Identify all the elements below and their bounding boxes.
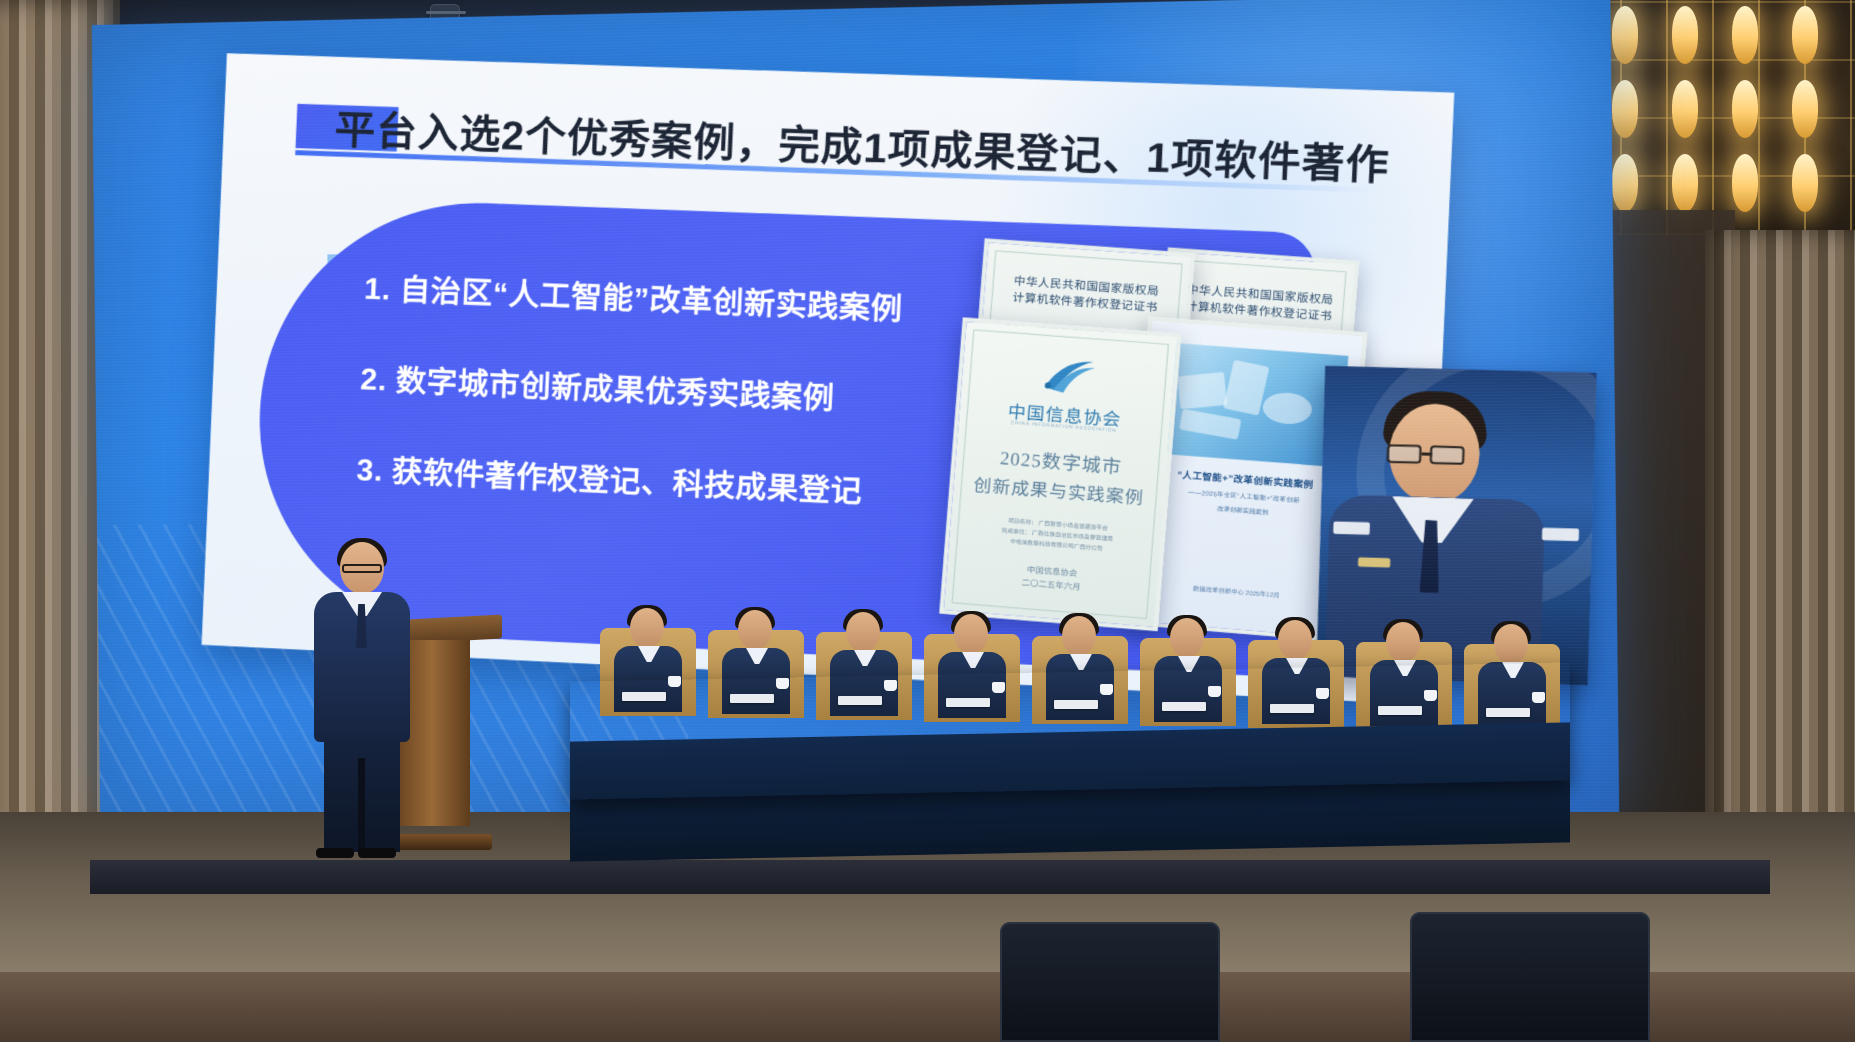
chandelier-bulb-icon xyxy=(1612,80,1638,138)
water-cup xyxy=(668,676,681,687)
chandelier-bulb-icon xyxy=(1732,80,1758,138)
speaker-glasses xyxy=(342,564,382,573)
member-head xyxy=(1278,620,1312,660)
chandelier-bulb-icon xyxy=(1612,6,1638,64)
water-cup xyxy=(1532,692,1545,703)
stage-riser xyxy=(90,860,1770,894)
member-head xyxy=(846,612,880,652)
name-plate xyxy=(1486,708,1530,717)
ai-doc-footer: 数据改革创新中心 2025年12月 xyxy=(1131,580,1342,607)
member-head xyxy=(1062,616,1096,656)
water-cup xyxy=(992,682,1005,693)
conference-hall-scene: 平台入选2个优秀案例，完成1项成果登记、1项软件著作 1. 自治区“人工智能”改… xyxy=(0,0,1855,1042)
chandelier-bulb-icon xyxy=(1792,154,1818,212)
member-head xyxy=(954,614,988,654)
audience-chair-2 xyxy=(1410,912,1650,1042)
name-plate xyxy=(1162,702,1206,711)
member-head xyxy=(1386,622,1420,662)
member-head xyxy=(1494,624,1528,664)
chandelier-bulb-icon xyxy=(1672,154,1698,212)
name-plate xyxy=(838,696,882,705)
name-plate xyxy=(1378,706,1422,715)
member-head xyxy=(630,608,664,648)
pip-glasses-right xyxy=(1430,445,1465,465)
chandelier-bulb-icon xyxy=(1612,154,1638,212)
audience-chair-1 xyxy=(1000,922,1220,1042)
pip-epaulette-right xyxy=(1542,528,1579,542)
china-information-association-certificate: 中国信息协会 CHINA INFORMATION ASSOCIATION 202… xyxy=(939,317,1181,631)
chandelier-bulb-icon xyxy=(1732,154,1758,212)
speaker-at-podium xyxy=(306,542,416,852)
name-plate xyxy=(1054,700,1098,709)
pip-glasses-left xyxy=(1387,444,1422,464)
lamp-yoke xyxy=(426,11,466,14)
water-cup xyxy=(776,678,789,689)
association-logo-icon xyxy=(1038,354,1098,399)
panel-table xyxy=(570,662,1570,799)
chandelier-bulb-icon xyxy=(1732,6,1758,64)
water-cup xyxy=(1100,684,1113,695)
member-head xyxy=(738,610,772,650)
speaker-shoe-left xyxy=(316,848,354,858)
speaker-shoe-right xyxy=(358,848,396,858)
pip-name-badge xyxy=(1358,557,1390,567)
name-plate xyxy=(622,692,666,701)
document-cover-photo xyxy=(1155,342,1349,467)
chandelier-bulb-icon xyxy=(1672,6,1698,64)
pip-glasses-bridge xyxy=(1421,452,1432,455)
water-cup xyxy=(1208,686,1221,697)
name-plate xyxy=(946,698,990,707)
speaker-legs xyxy=(324,738,400,852)
name-plate xyxy=(1270,704,1314,713)
chandelier-bulb-icon xyxy=(1792,6,1818,64)
water-cup xyxy=(1424,690,1437,701)
pip-epaulette-left xyxy=(1333,521,1370,535)
chandelier-bulb-icon xyxy=(1792,80,1818,138)
member-head xyxy=(1170,618,1204,658)
name-plate xyxy=(730,694,774,703)
water-cup xyxy=(884,680,897,691)
chandelier-bulb-icon xyxy=(1672,80,1698,138)
water-cup xyxy=(1316,688,1329,699)
